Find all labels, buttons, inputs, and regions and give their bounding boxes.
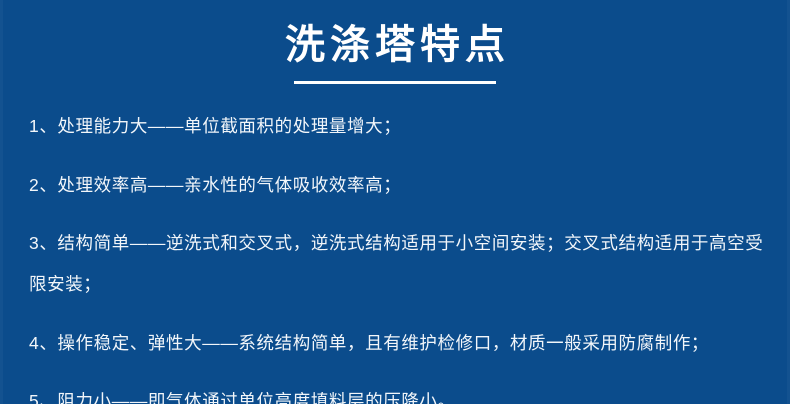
list-item: 2、处理效率高——亲水性的气体吸收效率高；	[29, 165, 771, 206]
title-underline-divider	[294, 81, 496, 84]
slide-header: 洗涤塔特点	[0, 0, 790, 84]
page-title: 洗涤塔特点	[0, 0, 790, 68]
slide-canvas: 洗涤塔特点 1、处理能力大——单位截面积的处理量增大； 2、处理效率高——亲水性…	[0, 0, 790, 404]
list-item: 3、结构简单——逆洗式和交叉式，逆洗式结构适用于小空间安装；交叉式结构适用于高空…	[29, 223, 771, 305]
list-item: 4、操作稳定、弹性大——系统结构简单，且有维护检修口，材质一般采用防腐制作；	[29, 323, 771, 364]
list-item: 5、阻力小——即气体通过单位高度填料层的压降小。	[29, 381, 771, 404]
list-item: 1、处理能力大——单位截面积的处理量增大；	[29, 106, 771, 147]
feature-list: 1、处理能力大——单位截面积的处理量增大； 2、处理效率高——亲水性的气体吸收效…	[29, 106, 771, 404]
